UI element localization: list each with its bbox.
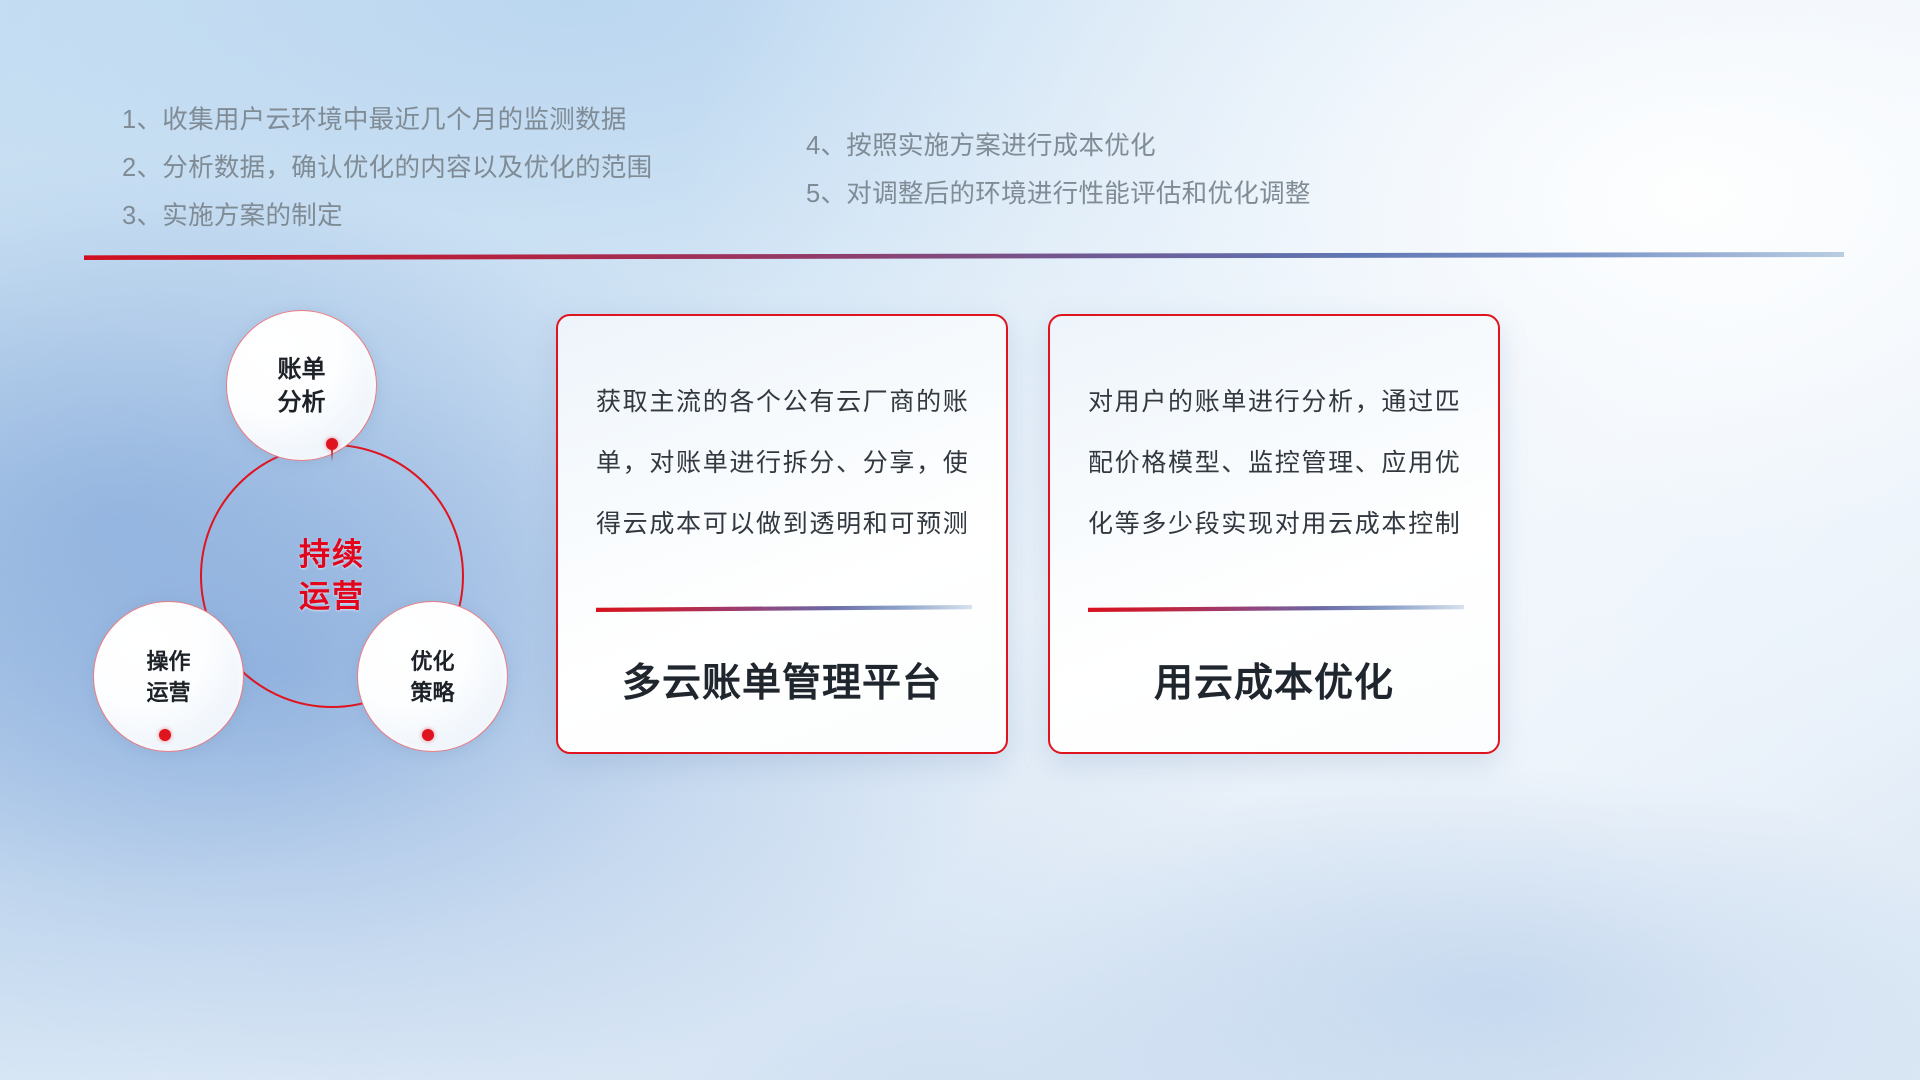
bubble-top-line1: 账单	[278, 353, 326, 386]
card-body-text: 对用户的账单进行分析，通过匹配价格模型、监控管理、应用优化等多少段实现对用云成本…	[1088, 372, 1460, 555]
diagram-node-dot-bottom-left	[159, 729, 171, 741]
operations-diagram: 持续 运营 账单 分析 操作 运营 优化 策略	[85, 296, 555, 766]
bubble-top-line2: 分析	[278, 386, 326, 419]
steps-column-left: 1、收集用户云环境中最近几个月的监测数据 2、分析数据，确认优化的内容以及优化的…	[122, 96, 762, 240]
card-body-text: 获取主流的各个公有云厂商的账单，对账单进行拆分、分享，使得云成本可以做到透明和可…	[596, 372, 968, 555]
card-title: 多云账单管理平台	[558, 652, 1006, 708]
card-cloud-cost-optimization[interactable]: 对用户的账单进行分析，通过匹配价格模型、监控管理、应用优化等多少段实现对用云成本…	[1048, 314, 1500, 754]
card-title: 用云成本优化	[1050, 652, 1498, 708]
bubble-right-line1: 优化	[410, 646, 454, 677]
card-divider	[1088, 605, 1464, 612]
center-label-line1: 持续	[299, 534, 365, 576]
step-item-5: 5、对调整后的环境进行性能评估和优化调整	[806, 170, 1506, 218]
diagram-tick-top	[331, 449, 333, 462]
bubble-left-line2: 运营	[146, 677, 190, 708]
card-multicloud-billing[interactable]: 获取主流的各个公有云厂商的账单，对账单进行拆分、分享，使得云成本可以做到透明和可…	[556, 314, 1008, 754]
diagram-node-dot-bottom-right	[422, 729, 434, 741]
diagram-bubble-bill-analysis[interactable]: 账单 分析	[226, 310, 377, 461]
diagram-node-dot-top	[326, 438, 338, 450]
step-item-3: 3、实施方案的制定	[122, 192, 762, 240]
diagram-bubble-optimization-strategy[interactable]: 优化 策略	[357, 601, 508, 752]
steps-column-right: 4、按照实施方案进行成本优化 5、对调整后的环境进行性能评估和优化调整	[806, 122, 1506, 218]
step-item-1: 1、收集用户云环境中最近几个月的监测数据	[122, 96, 762, 144]
bubble-right-line2: 策略	[410, 677, 454, 708]
step-item-4: 4、按照实施方案进行成本优化	[806, 122, 1506, 170]
center-label-line2: 运营	[299, 576, 365, 618]
bubble-left-line1: 操作	[146, 646, 190, 677]
step-item-2: 2、分析数据，确认优化的内容以及优化的范围	[122, 144, 762, 192]
card-divider	[596, 605, 972, 612]
